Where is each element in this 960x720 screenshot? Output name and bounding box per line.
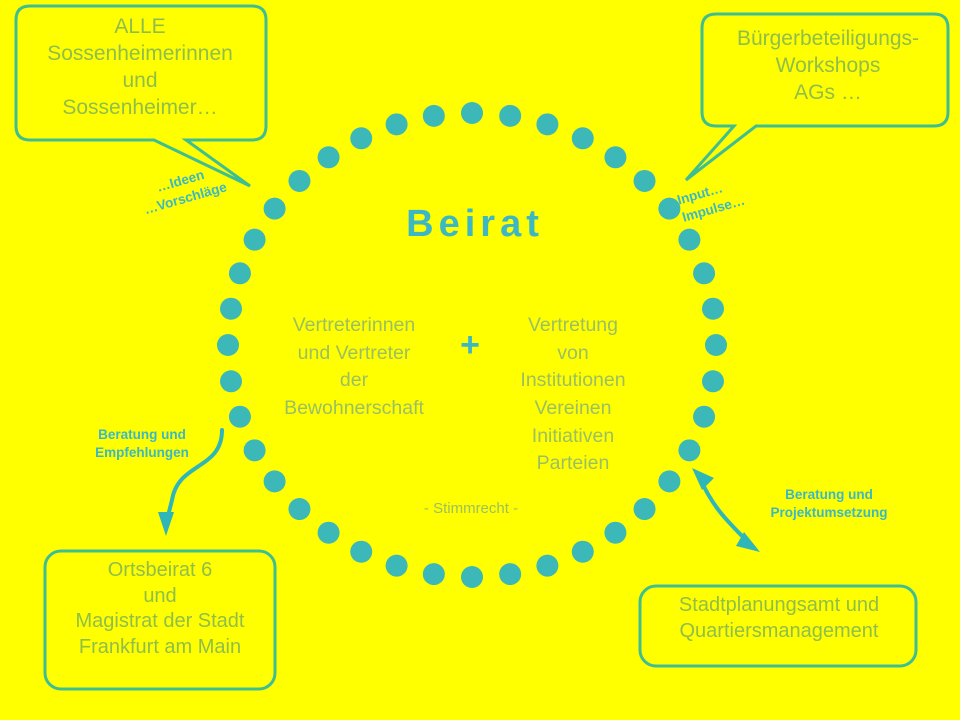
ring-dot — [658, 470, 680, 492]
ring-dot — [423, 563, 445, 585]
ring-dot — [423, 105, 445, 127]
plus-icon: + — [447, 328, 493, 362]
ring-dot — [702, 370, 724, 392]
ring-dot — [461, 566, 483, 588]
ring-dot — [572, 541, 594, 563]
ring-dot — [318, 522, 340, 544]
ring-dot — [536, 113, 558, 135]
box-text-stadtplanungsamt: Stadtplanungsamt und Quartiersmanagement — [646, 593, 912, 644]
ring-dot — [604, 146, 626, 168]
ring-dot — [229, 262, 251, 284]
bubble-text-workshops: Bürgerbeteiligungs- Workshops AGs … — [712, 26, 944, 107]
ring-dot — [678, 439, 700, 461]
ring-dot — [572, 127, 594, 149]
diagram-canvas: ALLE Sossenheimerinnen und Sossenheimer…… — [0, 0, 960, 720]
annotation-beratung-empfehlungen: Beratung und Empfehlungen — [72, 426, 212, 462]
ring-dot — [229, 406, 251, 428]
ring-dot — [604, 522, 626, 544]
ring-dot — [693, 406, 715, 428]
ring-dot — [499, 105, 521, 127]
ring-dot — [499, 563, 521, 585]
annotation-input-impulse: Input… Impulse… — [675, 161, 793, 227]
ring-dot — [693, 262, 715, 284]
annotation-beratung-projektumsetzung: Beratung und Projektumsetzung — [740, 486, 918, 522]
ring-dot — [220, 370, 242, 392]
ring-dot — [536, 555, 558, 577]
ring-dot — [461, 102, 483, 124]
bubble-text-citizens: ALLE Sossenheimerinnen und Sossenheimer… — [14, 14, 266, 122]
ring-dot — [288, 498, 310, 520]
center-column-institutions: Vertretung von Institutionen Vereinen In… — [490, 312, 656, 478]
ring-dot — [634, 498, 656, 520]
ring-dot — [386, 113, 408, 135]
annotation-ideen-vorschlaege: …Ideen …Vorschläge — [116, 155, 251, 226]
ring-dot — [244, 439, 266, 461]
ring-dot — [264, 470, 286, 492]
box-text-ortsbeirat: Ortsbeirat 6 und Magistrat der Stadt Fra… — [48, 558, 272, 660]
ring-dot — [350, 541, 372, 563]
ring-dot — [244, 229, 266, 251]
ring-dot — [217, 334, 239, 356]
ring-dot — [318, 146, 340, 168]
center-column-representatives: Vertreterinnen und Vertreter der Bewohne… — [268, 312, 440, 423]
ring-dot — [288, 170, 310, 192]
ring-dot — [220, 298, 242, 320]
ring-dot — [634, 170, 656, 192]
ring-dot — [264, 198, 286, 220]
center-footnote-stimmrecht: - Stimmrecht - — [378, 500, 564, 517]
ring-dot — [702, 298, 724, 320]
ring-dot — [350, 127, 372, 149]
ring-dot — [386, 555, 408, 577]
ring-dot — [678, 229, 700, 251]
ring-dot — [705, 334, 727, 356]
center-title: Beirat — [330, 203, 620, 246]
